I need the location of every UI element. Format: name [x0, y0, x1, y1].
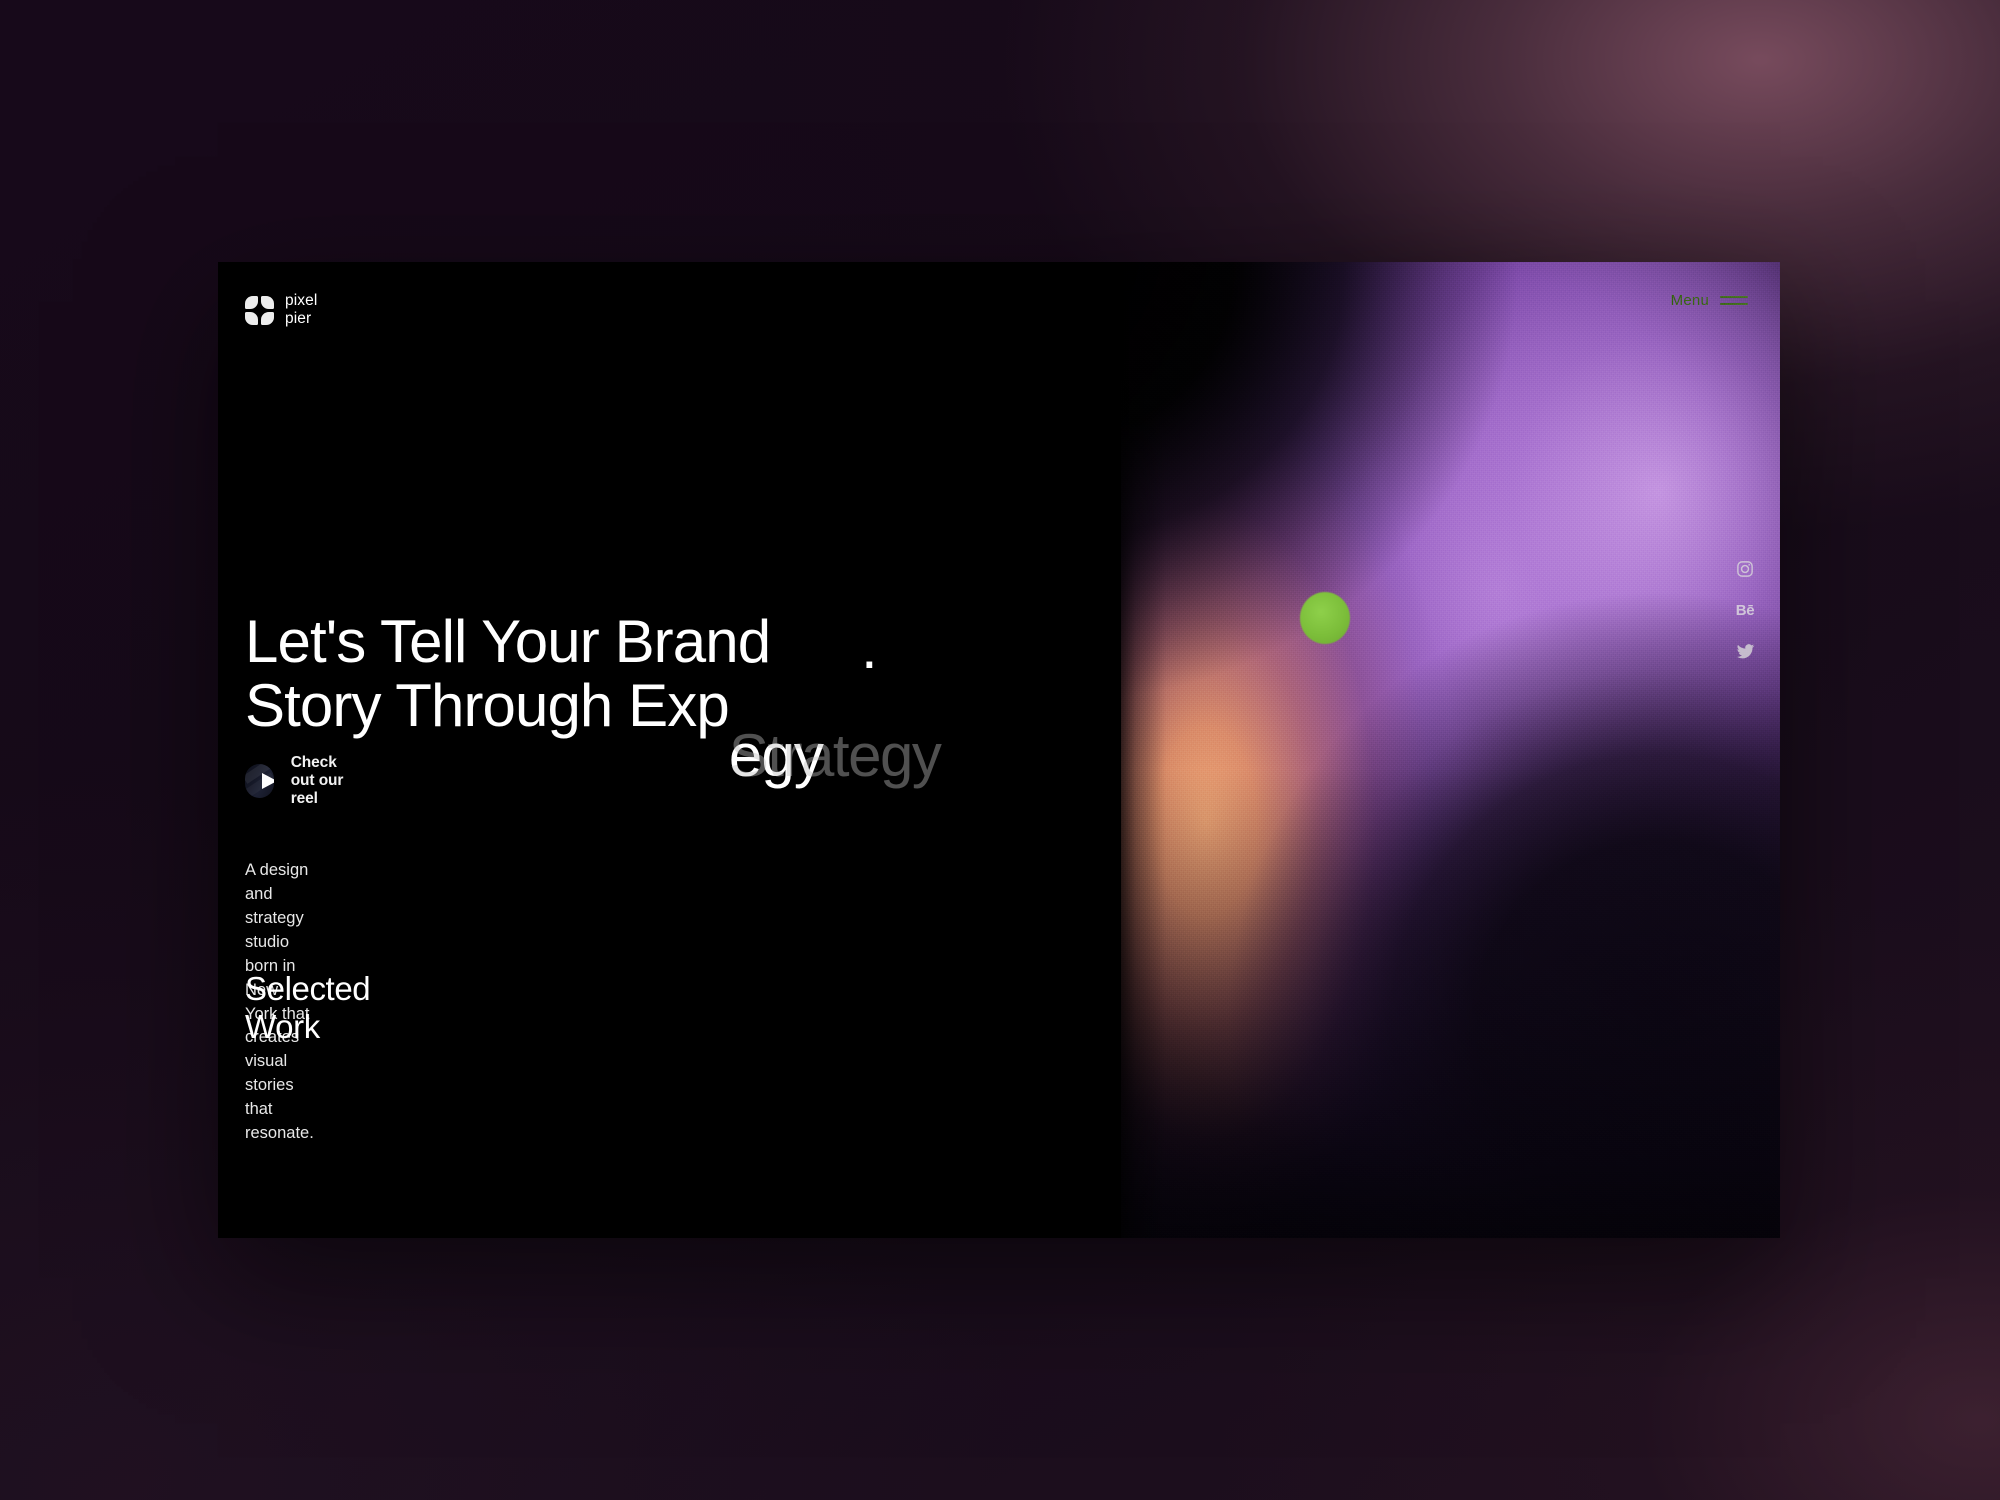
hero-gradient-artwork: [1098, 262, 1780, 1238]
headline-prefix: Story Through Exp: [245, 672, 729, 739]
site-logo[interactable]: pixel pier: [245, 292, 317, 328]
reel-label: Check out our reel: [291, 754, 362, 808]
headline-line-1: Let's Tell Your Brand: [245, 612, 925, 676]
page-title: Let's Tell Your Brand Story Through Expe…: [245, 612, 925, 740]
behance-icon[interactable]: Bē: [1734, 599, 1756, 621]
headline-word-incoming: Strategy: [729, 726, 940, 786]
logo-line-2: pier: [285, 310, 317, 328]
hero-left-panel: [218, 262, 1121, 1238]
green-accent-dot: [1300, 592, 1350, 644]
reel-button[interactable]: Check out our reel: [245, 754, 362, 808]
pinwheel-logo-icon: [245, 296, 274, 325]
gradient-grain-texture: [1098, 262, 1780, 1238]
logo-line-1: pixel: [285, 292, 317, 310]
menu-label: Menu: [1671, 292, 1709, 309]
social-links: Bē: [1734, 558, 1756, 662]
twitter-icon[interactable]: [1734, 640, 1756, 662]
logo-text: pixel pier: [285, 292, 317, 328]
instagram-icon[interactable]: [1734, 558, 1756, 580]
headline-period: .: [861, 618, 877, 678]
page-backdrop: pixel pier Menu Let's Tell Your Brand St…: [0, 0, 2000, 1500]
headline-line-2: Story Through ExpegyStrategy: [245, 676, 925, 740]
site-canvas: pixel pier Menu Let's Tell Your Brand St…: [218, 262, 1780, 1238]
reel-thumbnail[interactable]: [245, 764, 274, 798]
behance-label: Bē: [1736, 602, 1755, 619]
hamburger-menu-icon[interactable]: [1720, 296, 1748, 305]
selected-work-heading: Selected Work: [245, 970, 370, 1046]
play-triangle-icon: [262, 773, 274, 789]
menu-button[interactable]: Menu: [1671, 292, 1748, 309]
